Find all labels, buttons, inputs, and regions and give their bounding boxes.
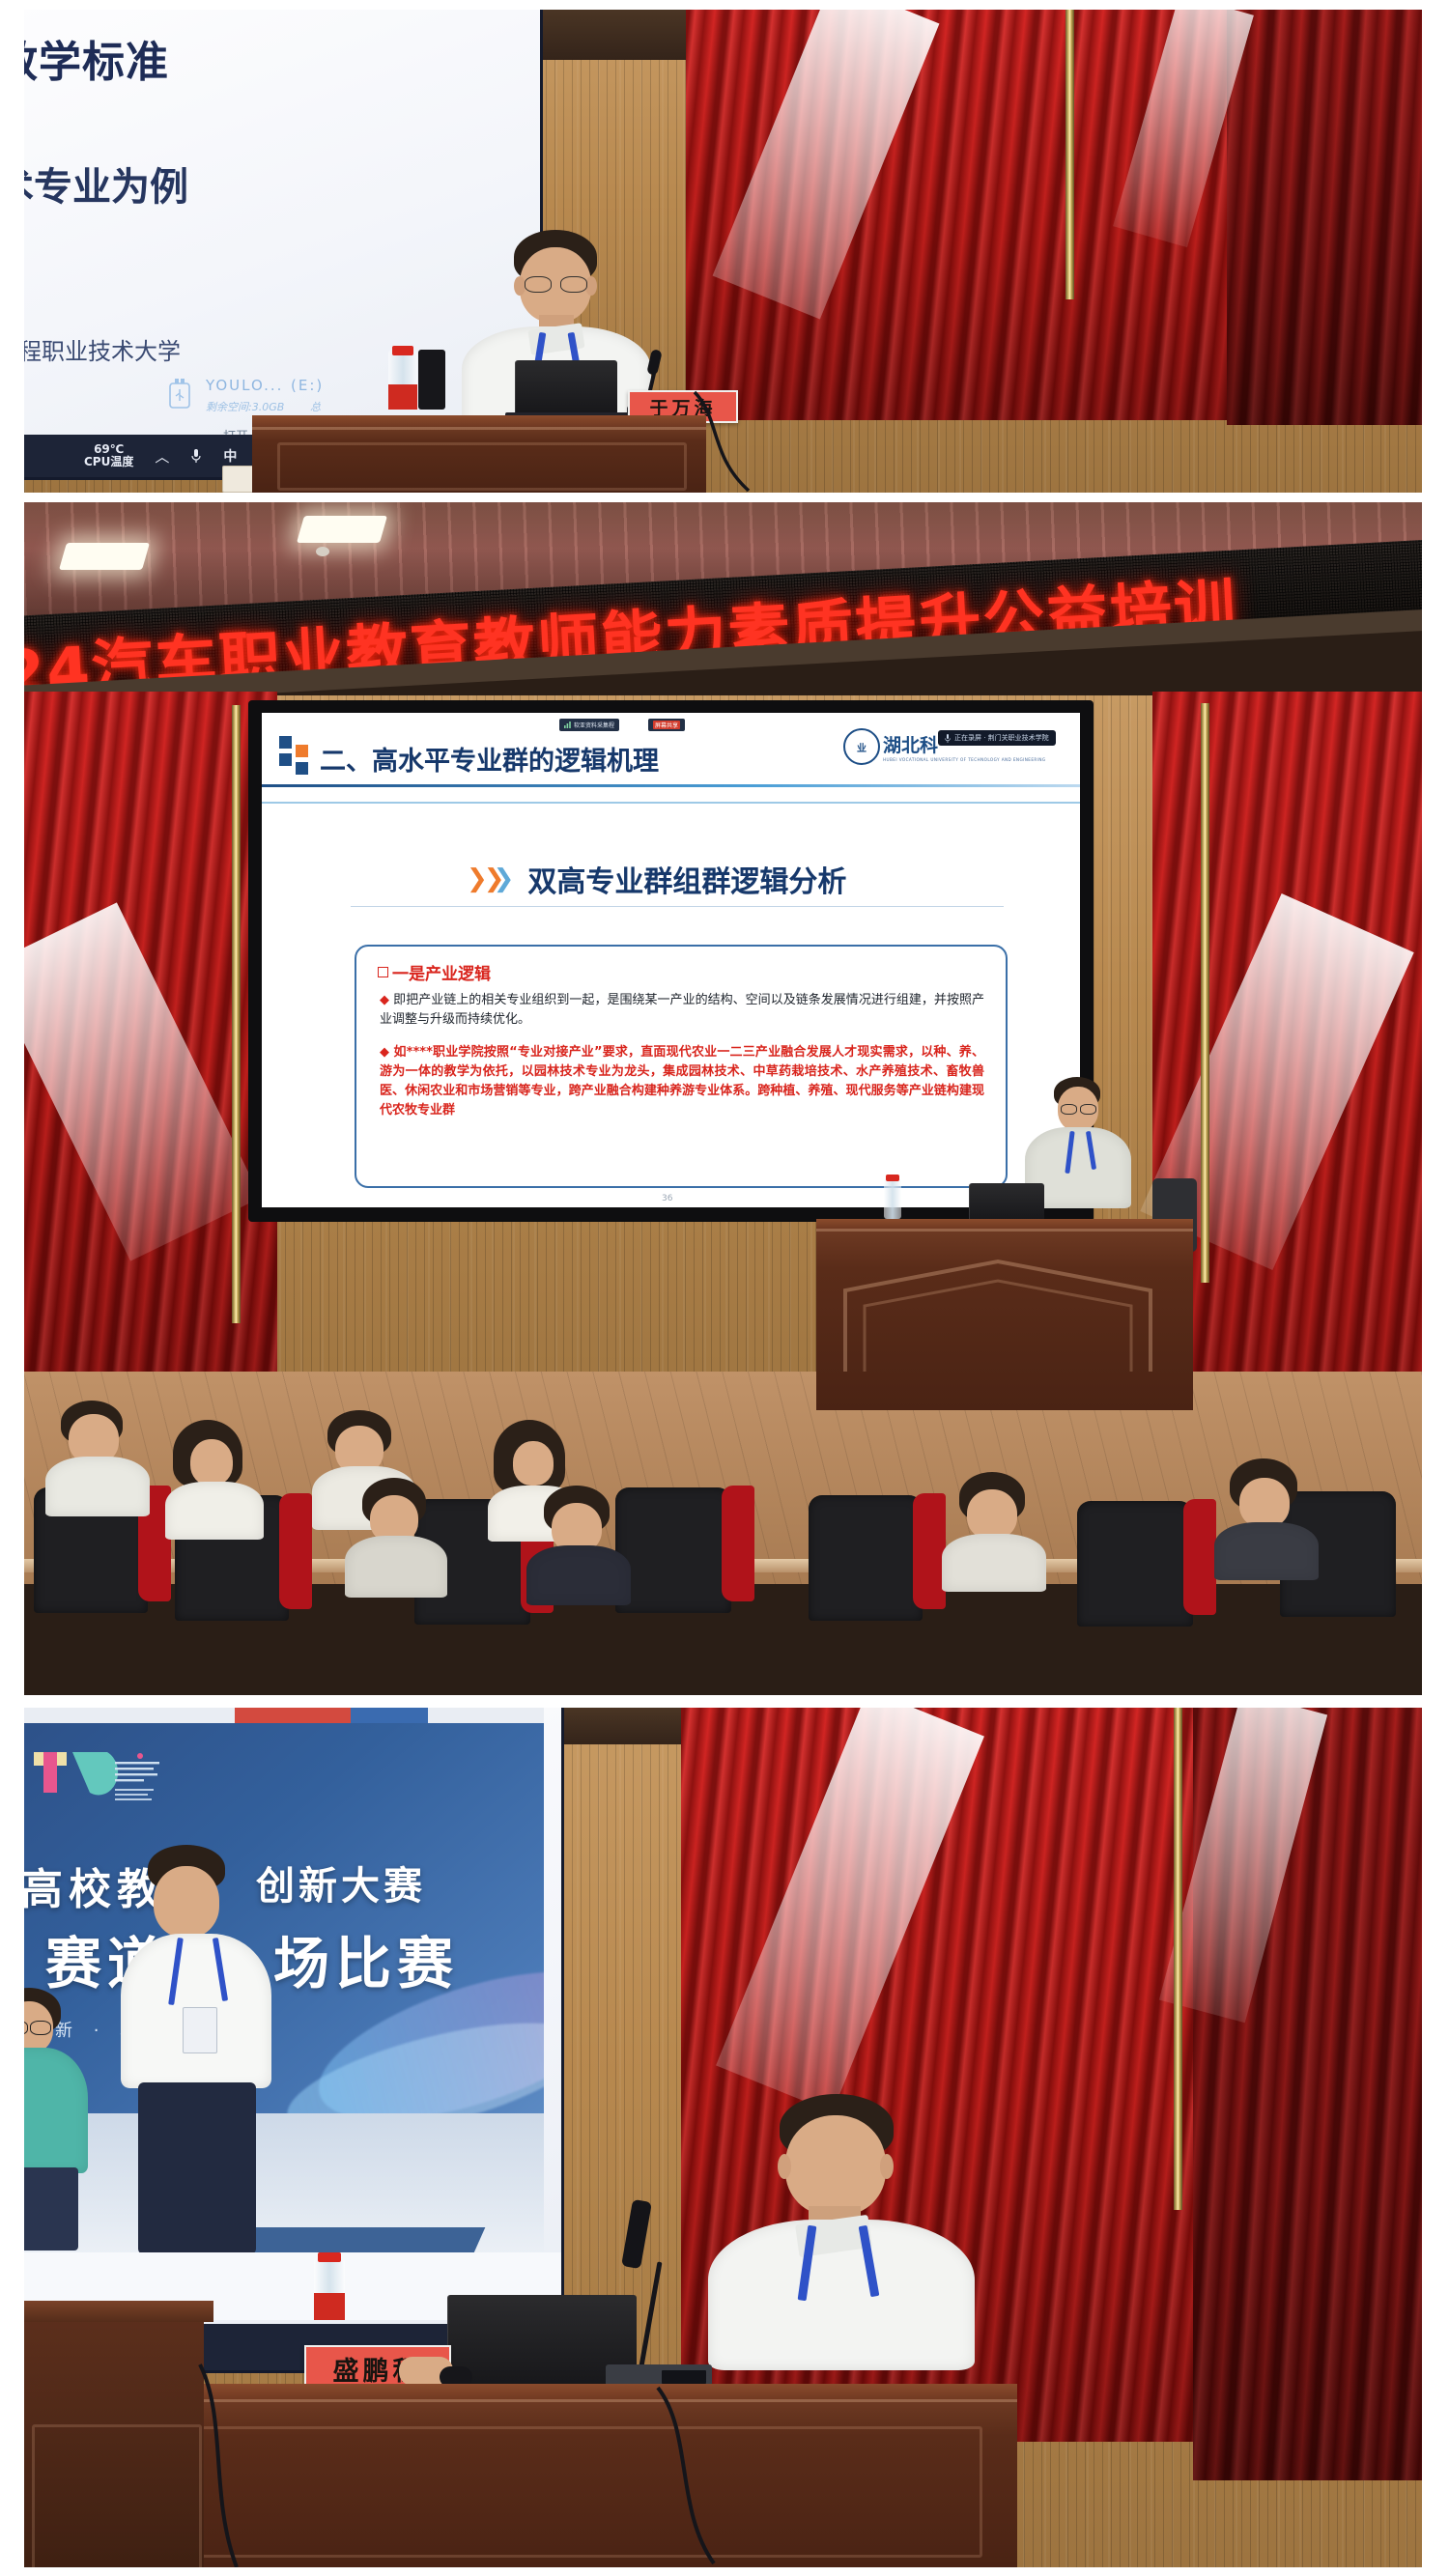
audience-member-6 bbox=[526, 1486, 633, 1601]
capture-toast-left[interactable]: 软亚资料采集程 bbox=[559, 719, 619, 731]
capture-toast-left-text: 软亚资料采集程 bbox=[574, 721, 614, 729]
desk-front-panel1 bbox=[277, 442, 687, 491]
diamond-bullet-icon-1: ◆ bbox=[380, 993, 393, 1007]
ceiling-light-2 bbox=[297, 516, 387, 543]
usb-drive-letter: (E:) bbox=[291, 377, 324, 394]
slide-section-rule bbox=[351, 906, 1004, 907]
cable-panel1 bbox=[691, 388, 778, 493]
audience-seat-red-4 bbox=[722, 1486, 754, 1601]
speaker-glasses2-panel1 bbox=[560, 276, 587, 293]
projection-screen-panel3: 高校教师 创新大赛 赛道 场比赛 新 · 境 4年6月 bbox=[24, 1708, 561, 2370]
university-logo-en: HUBEI VOCATIONAL UNIVERSITY OF TECHNOLOG… bbox=[883, 757, 1046, 762]
screen-record-notification[interactable]: 正在录屏 · 荆门关职业技术学院 bbox=[938, 730, 1056, 746]
slide-page-number: 36 bbox=[662, 1194, 672, 1203]
contest-person-left bbox=[24, 1988, 96, 2249]
chart-bars-icon bbox=[564, 722, 571, 728]
slide-title-line-panel1: 教学标准 bbox=[24, 27, 169, 89]
contest-person-center-legs bbox=[138, 2082, 256, 2254]
podium-left-moulding-panel3 bbox=[32, 2424, 202, 2567]
gold-flagpole-left-panel2 bbox=[232, 705, 241, 1323]
contest-person-left-glasses2 bbox=[30, 2021, 51, 2035]
cable2-panel3 bbox=[654, 2384, 731, 2567]
mic-base-label-panel3 bbox=[662, 2370, 706, 2384]
header-square-4 bbox=[296, 762, 308, 775]
audience-member-5 bbox=[343, 1478, 449, 1594]
university-seal-icon: 业 bbox=[843, 728, 880, 765]
panel-3-photo: 高校教师 创新大赛 赛道 场比赛 新 · 境 4年6月 bbox=[24, 1708, 1422, 2567]
bottle-cap-panel1 bbox=[392, 346, 413, 355]
contest-title-line1b: 创新大赛 bbox=[256, 1854, 426, 1911]
laptop-lid-panel1 bbox=[515, 360, 617, 414]
audience-member-7 bbox=[942, 1472, 1048, 1588]
mic-small-icon bbox=[945, 734, 951, 743]
bottle-label-panel1 bbox=[388, 384, 417, 410]
gold-flagpole-right-panel2 bbox=[1201, 703, 1209, 1283]
slide-header-title: 二、高水平专业群的逻辑机理 bbox=[320, 740, 659, 778]
contest-person-center-badge bbox=[183, 2007, 217, 2053]
speaker-ear-left-panel3 bbox=[778, 2154, 791, 2179]
audience-seat-red-2 bbox=[279, 1493, 312, 1609]
audience-torso-8 bbox=[1214, 1522, 1319, 1580]
screen-content-panel3: 高校教师 创新大赛 赛道 场比赛 新 · 境 4年6月 bbox=[24, 1708, 561, 2370]
audience-seat-6 bbox=[1077, 1501, 1193, 1627]
audience-seat-4 bbox=[615, 1487, 731, 1613]
slide-bullet-heading: 一是产业逻辑 bbox=[378, 960, 491, 984]
audience-head-7 bbox=[967, 1489, 1017, 1540]
water-bottle-panel2 bbox=[884, 1178, 901, 1219]
panel-1-photo: 教学标准 术专业为例 工程职业技术大学 YOULO... (E:) 剩余空间:3… bbox=[24, 10, 1422, 493]
audience-torso-5 bbox=[345, 1536, 447, 1598]
contest-top-stripe-blue bbox=[351, 1708, 428, 1723]
contest-logo bbox=[32, 1748, 186, 1812]
audience-member-1 bbox=[45, 1401, 152, 1507]
square-bullet-icon bbox=[378, 967, 388, 977]
diamond-bullet-icon-2: ◆ bbox=[380, 1045, 394, 1060]
speaker-glasses-panel2 bbox=[1061, 1104, 1077, 1115]
cpu-temp-indicator[interactable]: 69℃ CPU温度 bbox=[84, 443, 133, 467]
capture-toast-right[interactable]: 屏幕共享 bbox=[648, 719, 685, 731]
contest-slide-image: 高校教师 创新大赛 赛道 场比赛 新 · 境 4年6月 bbox=[24, 1708, 544, 2268]
audience-head-8 bbox=[1239, 1478, 1290, 1528]
slide-paragraph-1: ◆ 即把产业链上的相关专业组织到一起，是围绕某一产业的结构、空间以及链条发展情况… bbox=[380, 991, 984, 1030]
audience-seat-red-6 bbox=[1183, 1499, 1216, 1615]
audience-seat-red-5 bbox=[913, 1493, 946, 1609]
desk-front-panel3 bbox=[188, 2426, 982, 2558]
slide-section-title: 双高专业群组群逻辑分析 bbox=[527, 858, 846, 900]
laptop-lid-panel2 bbox=[969, 1183, 1044, 1222]
thermos-panel1 bbox=[418, 350, 445, 410]
slide-header-rule-1 bbox=[262, 784, 1080, 787]
audience-torso-1 bbox=[45, 1457, 150, 1516]
chevron-right-blue-icon: ❯ bbox=[494, 864, 511, 893]
desk-front-ornament-panel2 bbox=[839, 1256, 1168, 1391]
gold-flagpole-panel3 bbox=[1174, 1708, 1182, 2210]
presentation-slide-panel2: 二、高水平专业群的逻辑机理 业 湖北科 HUBEI VOCATIONAL UNI… bbox=[262, 713, 1080, 1207]
panel-2-photo: 24汽车职业教育教师能力素质提升公益培训 二、高水平专业群的逻辑机理 业 bbox=[24, 502, 1422, 1695]
speaker-head-panel3 bbox=[785, 2115, 886, 2216]
contest-person-left-torso bbox=[24, 2048, 88, 2173]
microphone-icon[interactable] bbox=[190, 448, 202, 465]
contest-logo-icon bbox=[32, 1748, 186, 1808]
red-curtain-far-right-panel1 bbox=[1227, 10, 1422, 425]
slide-paragraph-1-text: 即把产业链上的相关专业组织到一起，是围绕某一产业的结构、空间以及链条发展情况进行… bbox=[380, 993, 984, 1027]
bottle-label-panel3 bbox=[314, 2293, 345, 2320]
audience-torso-7 bbox=[942, 1534, 1046, 1592]
audience-member-8 bbox=[1214, 1458, 1321, 1574]
slide-section-row: ❯❯ ❯ 双高专业群组群逻辑分析 bbox=[467, 858, 846, 900]
usb-total-label: 总 bbox=[310, 399, 321, 414]
cable-panel3 bbox=[194, 2361, 252, 2567]
bottle-cap-panel2 bbox=[886, 1175, 899, 1181]
audience-torso-2 bbox=[165, 1482, 264, 1540]
contest-person-left-legs bbox=[24, 2167, 78, 2250]
slide-org-line-panel1: 工程职业技术大学 bbox=[24, 332, 181, 366]
slide-header-rule-2 bbox=[262, 802, 1080, 804]
speaker-glasses-panel1 bbox=[525, 276, 552, 293]
header-square-1 bbox=[279, 736, 292, 749]
contest-person-center-head bbox=[154, 1866, 219, 1938]
speaker-panel3 bbox=[700, 2094, 990, 2364]
bottle-cap-panel3 bbox=[318, 2252, 341, 2262]
gold-flagpole-panel1 bbox=[1065, 10, 1074, 299]
smoke-detector-panel2 bbox=[316, 547, 329, 556]
usb-free-space: 剩余空间:3.0GB bbox=[206, 399, 284, 414]
audience-member-2 bbox=[159, 1420, 266, 1526]
slide-paragraph-2-text: 如****职业学院按照“专业对接产业”要求，直面现代农业一二三产业融合发展人才现… bbox=[380, 1045, 984, 1118]
ime-language-icon[interactable]: 中 bbox=[223, 446, 237, 466]
usb-drive-icon bbox=[167, 377, 192, 410]
usb-device-name: YOULO... bbox=[206, 377, 283, 394]
header-square-2 bbox=[279, 753, 292, 766]
ceiling-light-1 bbox=[59, 543, 150, 570]
contest-title-line2b: 场比赛 bbox=[273, 1918, 459, 1999]
slide-paragraph-2: ◆ 如****职业学院按照“专业对接产业”要求，直面现代农业一二三产业融合发展人… bbox=[380, 1043, 984, 1121]
audience-seat-5 bbox=[809, 1495, 923, 1621]
podium-left-top-panel3 bbox=[24, 2301, 213, 2322]
cpu-temp-label: CPU温度 bbox=[84, 456, 133, 468]
chevron-up-icon[interactable]: ︿ bbox=[155, 446, 169, 467]
audience-head-2 bbox=[190, 1439, 233, 1486]
slide-content-box: 一是产业逻辑 ◆ 即把产业链上的相关专业组织到一起，是围绕某一产业的结构、空间以… bbox=[355, 945, 1008, 1188]
audience-torso-6 bbox=[526, 1545, 631, 1605]
audience-head-4 bbox=[513, 1441, 554, 1486]
contest-person-center bbox=[121, 1845, 275, 2250]
slide-bullet-heading-text: 一是产业逻辑 bbox=[392, 960, 491, 984]
photo-collage-page: 教学标准 术专业为例 工程职业技术大学 YOULO... (E:) 剩余空间:3… bbox=[0, 0, 1449, 2576]
header-square-3 bbox=[296, 745, 308, 757]
capture-toast-right-text: 屏幕共享 bbox=[653, 721, 680, 729]
speaker-ear-right-panel3 bbox=[880, 2154, 894, 2179]
contest-top-stripe-red bbox=[235, 1708, 351, 1723]
speaker-glasses2-panel2 bbox=[1080, 1104, 1096, 1115]
screen-record-notification-text: 正在录屏 · 荆门关职业技术学院 bbox=[954, 733, 1049, 743]
slide-subtitle-line-panel1: 术专业为例 bbox=[24, 156, 188, 212]
